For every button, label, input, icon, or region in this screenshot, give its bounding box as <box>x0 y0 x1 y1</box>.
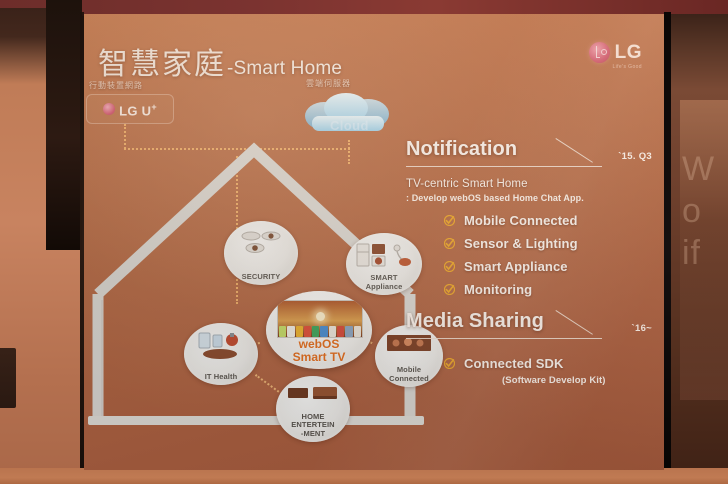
notification-date: `15. Q3 <box>618 151 652 162</box>
lg-uplus-superscript: + <box>151 102 157 112</box>
webos-card[interactable] <box>354 326 361 337</box>
section-media-sharing: Media Sharing `16~ Connected SDK (Softwa… <box>406 310 654 386</box>
slide-title-chinese: 智慧家庭 <box>98 50 226 80</box>
lg-uplus-badge: LG U+ <box>86 94 174 124</box>
check-icon <box>444 238 455 249</box>
security-icon <box>224 230 298 256</box>
bullet-item: Sensor & Lighting <box>444 236 654 251</box>
bullet-item: Smart Appliance <box>444 259 654 274</box>
background-wall-text: Woif <box>682 148 728 274</box>
webos-card[interactable] <box>320 326 327 337</box>
bullet-label: Mobile Connected <box>464 213 578 228</box>
node-home-entertainment[interactable]: HOMEENTERTEIN-MENT <box>276 376 350 442</box>
room-left-notch <box>0 348 16 408</box>
it-health-icon <box>184 332 258 360</box>
check-icon <box>444 358 455 369</box>
lg-mark-small-icon <box>103 103 115 115</box>
tv-corner-badge <box>279 300 289 301</box>
webos-card[interactable] <box>287 326 294 337</box>
bullet-label: Sensor & Lighting <box>464 236 578 251</box>
notification-heading: Notification `15. Q3 <box>406 138 654 170</box>
tv-sun-glow <box>316 312 325 321</box>
webos-card[interactable] <box>279 326 286 337</box>
bullet-sublabel: (Software Develop Kit) <box>502 375 654 386</box>
media-sharing-heading: Media Sharing `16~ <box>406 310 654 342</box>
notification-subtitle: TV-centric Smart Home <box>406 178 654 190</box>
notification-detail: : Develop webOS based Home Chat App. <box>406 193 654 203</box>
room-left-dark-panel <box>46 0 82 250</box>
webos-card[interactable] <box>312 326 319 337</box>
node-webos-smart-tv[interactable]: webOSSmart TV <box>266 291 372 369</box>
media-sharing-title: Media Sharing <box>406 310 544 333</box>
lg-tagline: Life's Good <box>612 64 642 70</box>
screen-right-seam <box>664 12 671 484</box>
presentation-slide: 智慧家庭 -Smart Home LG Life's Good 行動裝置網路 L… <box>84 14 664 470</box>
slide-title-english: -Smart Home <box>227 58 342 80</box>
bullet-label: Smart Appliance <box>464 259 568 274</box>
lg-wordmark: LG <box>615 43 642 62</box>
node-security[interactable]: SECURITY <box>224 221 298 285</box>
mobile-network-label: 行動裝置網路 <box>89 80 143 91</box>
media-sharing-underline <box>406 338 602 339</box>
node-home-entertainment-label: HOMEENTERTEIN-MENT <box>291 413 334 443</box>
room-floor-band <box>0 468 728 484</box>
cloud-server-label: 雲端伺服器 <box>306 78 351 89</box>
slide-title: 智慧家庭 -Smart Home <box>98 50 342 80</box>
node-webos-label: webOSSmart TV <box>293 338 346 369</box>
check-icon <box>444 284 455 295</box>
check-icon <box>444 261 455 272</box>
lg-logo: LG <box>589 42 642 63</box>
home-entertainment-icon <box>276 385 350 401</box>
node-it-health-label: IT Health <box>205 373 238 386</box>
lg-uplus-text: LG U <box>119 103 151 118</box>
bullet-label: Monitoring <box>464 282 532 297</box>
tv-screen <box>277 300 363 338</box>
webos-card[interactable] <box>345 326 352 337</box>
bullet-item: Monitoring <box>444 282 654 297</box>
node-smart-appliance-label: SMARTAppliance <box>366 274 403 295</box>
check-icon <box>444 215 455 226</box>
media-sharing-date: `16~ <box>632 323 652 334</box>
section-notification: Notification `15. Q3 TV-centric Smart Ho… <box>406 138 654 305</box>
webos-card[interactable] <box>337 326 344 337</box>
notification-title: Notification <box>406 138 517 161</box>
media-sharing-bullets: Connected SDK (Software Develop Kit) <box>406 356 654 386</box>
webos-card-bar <box>278 324 362 337</box>
bullet-label: Connected SDK <box>464 356 564 371</box>
webos-card[interactable] <box>304 326 311 337</box>
node-it-health[interactable]: IT Health <box>184 323 258 385</box>
bullet-item: Mobile Connected <box>444 213 654 228</box>
lg-mark-icon <box>589 42 610 63</box>
photo-of-projected-slide: Woif 智慧家庭 -Smart Home LG Life's Good 行動裝… <box>0 0 728 484</box>
webos-card[interactable] <box>296 326 303 337</box>
bullet-item: Connected SDK <box>444 356 654 371</box>
notification-underline <box>406 166 602 167</box>
notification-bullets: Mobile Connected Sensor & Lighting Smart… <box>406 213 654 297</box>
webos-card[interactable] <box>329 326 336 337</box>
